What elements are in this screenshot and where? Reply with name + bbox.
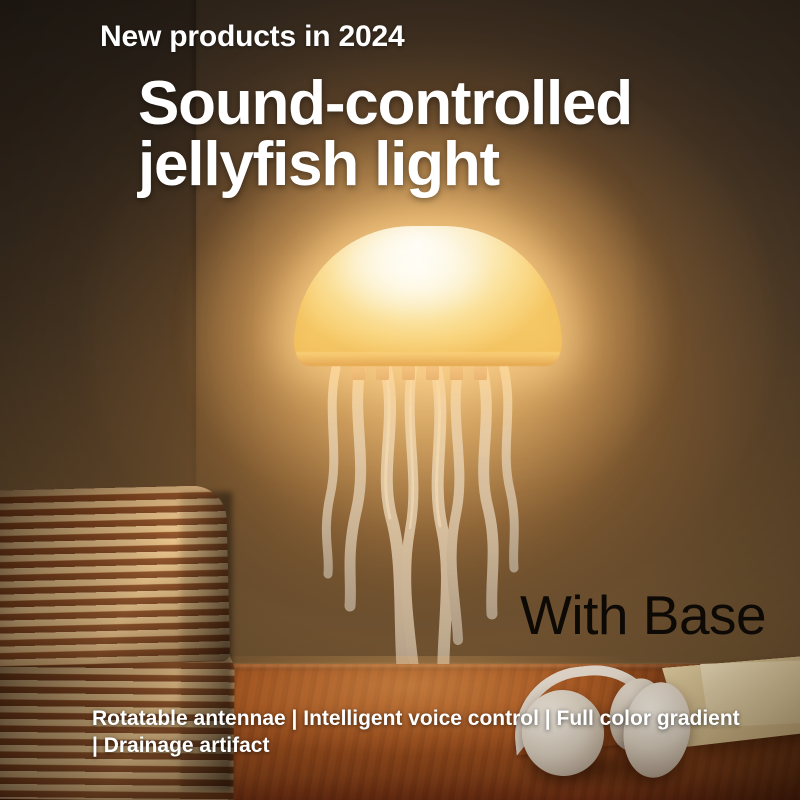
lamp-highlight <box>338 238 488 318</box>
lamp-dome-rim <box>296 352 560 366</box>
kicker-text: New products in 2024 <box>100 20 404 54</box>
product-banner: New products in 2024 Sound-controlled je… <box>0 0 800 800</box>
headline-line-2: jellyfish light <box>138 135 632 196</box>
page-title: Sound-controlled jellyfish light <box>138 74 632 196</box>
feature-list-text: Rotatable antennae | Intelligent voice c… <box>92 706 742 760</box>
headline-line-1: Sound-controlled <box>138 74 632 135</box>
with-base-badge: With Base <box>520 583 766 647</box>
